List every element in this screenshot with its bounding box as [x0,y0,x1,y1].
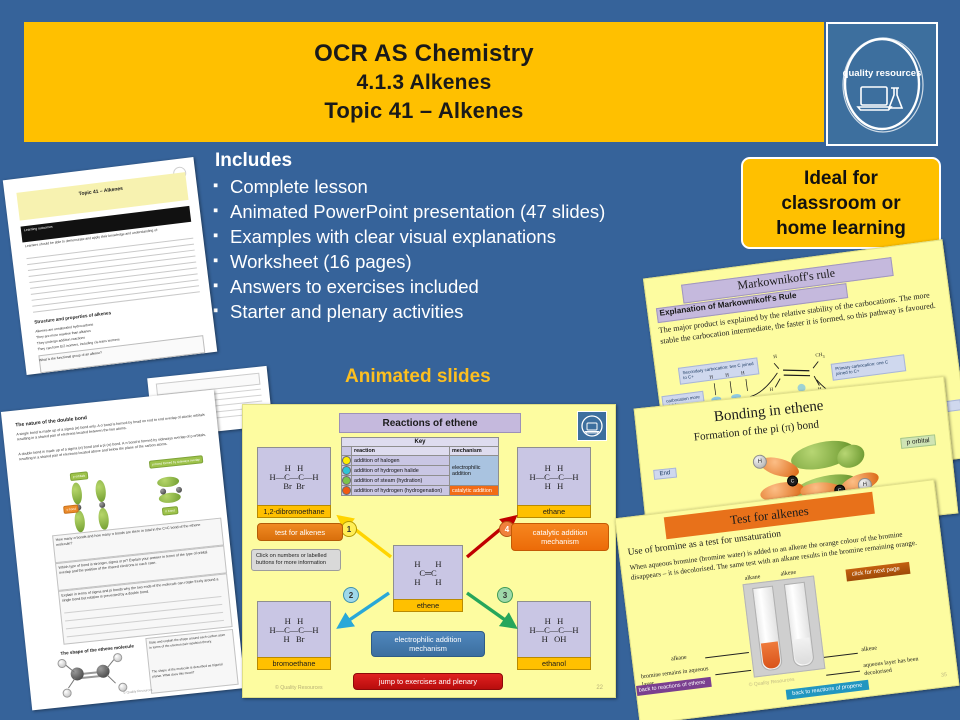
list-item: Starter and plenary activities [213,299,683,324]
catalytic-addition-mechanism-button[interactable]: catalytic addition mechanism [511,523,609,551]
step-number-2[interactable]: 2 [343,587,359,603]
step-number-3[interactable]: 3 [497,587,513,603]
pi-bond-overlap-tag: pi bond formed by sideways overlap [149,455,203,469]
annotation-decolorised: aqueous layer has been decolorised [863,653,936,678]
click-for-next-page-button[interactable]: click for next page [845,562,910,582]
step-number-1[interactable]: 1 [341,521,357,537]
worksheet-page-1: Topic 41 – Alkenes Learning outcomes Lea… [3,157,217,375]
tube-label-alkane: alkane [744,573,761,583]
test-for-alkenes-button[interactable]: test for alkenes [257,523,343,541]
includes-list: Complete lesson Animated PowerPoint pres… [213,174,683,324]
tube-label-alkene: alkene [780,569,797,579]
annotation-alkane: alkane [671,654,688,664]
includes-heading: Includes [215,150,683,172]
quality-resources-logo: quality resources [826,22,938,146]
electrophilic-addition-mechanism-button[interactable]: electrophilic addition mechanism [371,631,485,657]
title-line-3: Topic 41 – Alkenes [324,98,523,124]
list-item: Answers to exercises included [213,274,683,299]
test-tube-rack: alkane alkene [743,576,826,678]
worksheet2-shape-heading: The shape of the ethene molecule [60,643,134,656]
title-line-1: OCR AS Chemistry [314,40,534,68]
bonding-subtitle: Formation of the pi (π) bond [693,418,819,443]
logo-graphic: quality resources [834,32,930,136]
logo-text: quality resources [843,68,922,79]
list-item: Worksheet (16 pages) [213,249,683,274]
pi-bond-tag-2: π bond [162,506,178,516]
jump-to-exercises-button[interactable]: jump to exercises and plenary [353,673,503,690]
list-item: Animated PowerPoint presentation (47 sli… [213,199,683,224]
badge-line-3: home learning [776,216,906,241]
annotation-alkene: alkene [861,644,878,654]
slide-page-number: 22 [596,685,603,691]
end-button[interactable]: End [653,468,677,480]
test-tube-alkene [784,582,815,668]
title-line-2: 4.1.3 Alkenes [357,71,492,95]
list-item: Complete lesson [213,174,683,199]
animated-slides-caption: Animated slides [345,366,491,388]
laptop-icon [858,87,891,110]
ethene-ball-and-stick-model [1,390,214,412]
test-footer: © Quality Resources [748,677,794,689]
back-to-reactions-of-propene-button[interactable]: back to reactions of propene [786,680,869,700]
test-tube-alkane [752,586,783,672]
slide-footer: © Quality Resources [275,685,323,691]
test-page-number: 35 [941,672,948,679]
sigma-bond-tag: σ bond [63,504,79,514]
flask-icon [889,88,902,108]
badge-line-2: classroom or [781,191,900,216]
worksheet1-section-heading: Structure and properties of alkenes [34,310,111,324]
test-for-alkenes-slide: Test for alkenes Use of bromine as a tes… [615,479,960,720]
badge-line-1: Ideal for [804,166,878,191]
p-orbitals-tag: p orbitals [70,471,89,481]
worksheet-page-2: The nature of the double bond A single b… [1,390,245,711]
poster-canvas: OCR AS Chemistry 4.1.3 Alkenes Topic 41 … [0,0,960,720]
ideal-for-badge: Ideal for classroom or home learning [741,157,941,249]
list-item: Examples with clear visual explanations [213,224,683,249]
instruction-tooltip: Click on numbers or labelled buttons for… [251,549,341,571]
title-banner: OCR AS Chemistry 4.1.3 Alkenes Topic 41 … [24,22,824,142]
reactions-of-ethene-slide: Reactions of ethene Key reaction mechani… [242,404,616,698]
includes-block: Includes Complete lesson Animated PowerP… [213,150,683,324]
p-orbital-label: p orbital [900,434,936,449]
